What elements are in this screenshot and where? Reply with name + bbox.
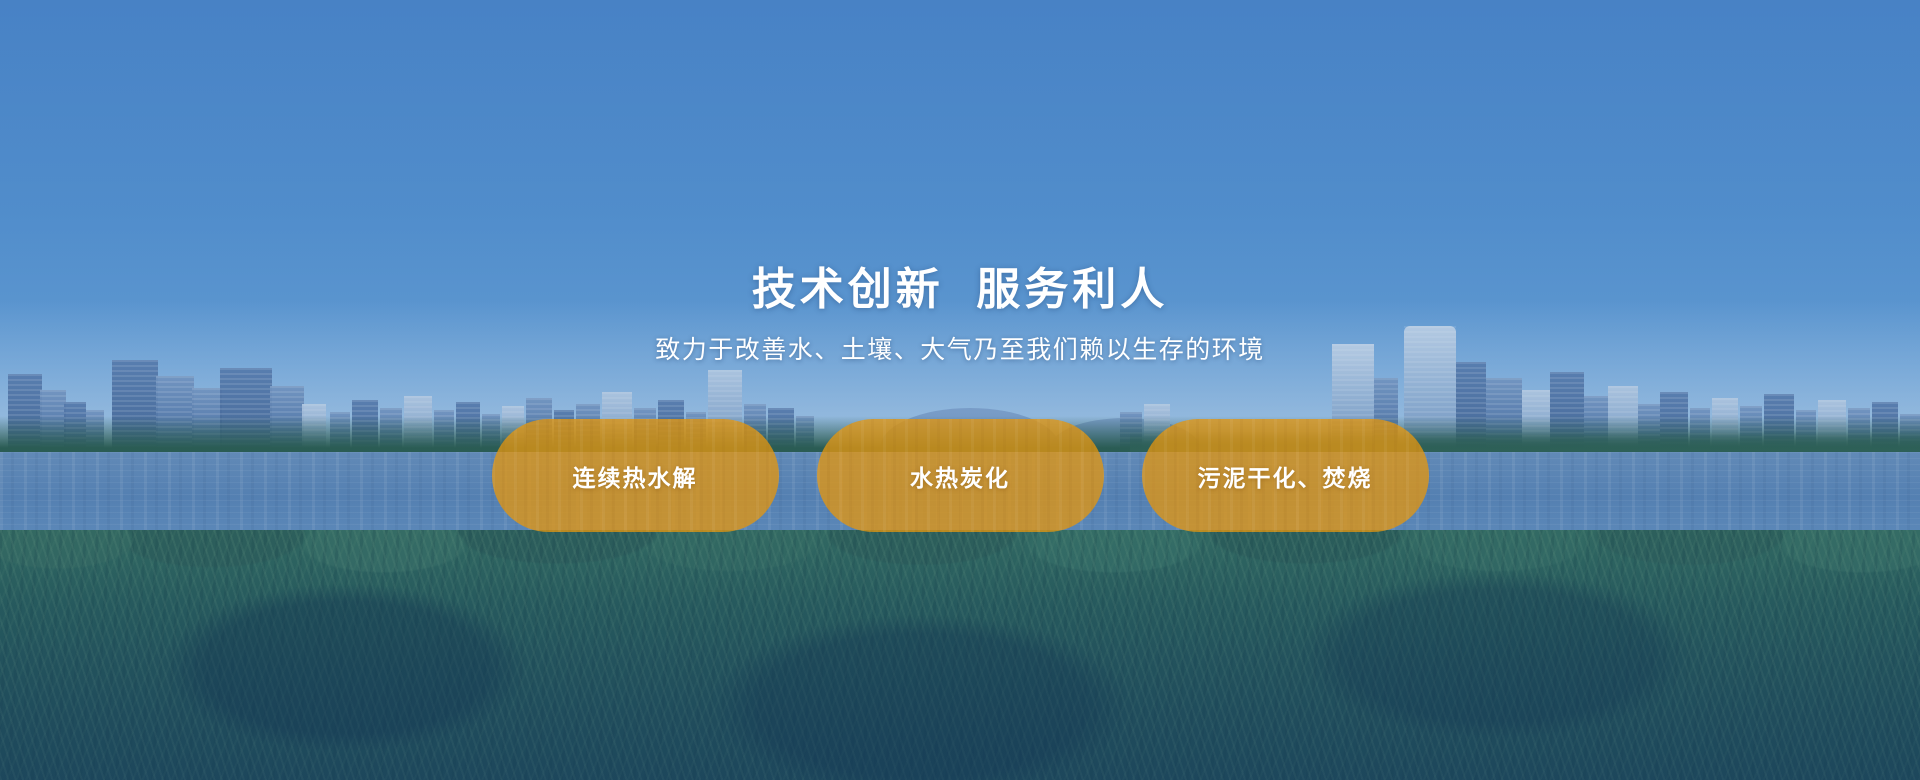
- pill-button-sludge-drying-incineration[interactable]: 污泥干化、焚烧: [1142, 419, 1429, 532]
- hero-subtitle: 致力于改善水、土壤、大气乃至我们赖以生存的环境: [655, 338, 1265, 363]
- hero-button-row: 连续热水解 水热炭化 污泥干化、焚烧: [492, 419, 1429, 532]
- pill-button-label: 污泥干化、焚烧: [1198, 459, 1373, 493]
- hero-content: 技术创新 服务利人 致力于改善水、土壤、大气乃至我们赖以生存的环境 连续热水解 …: [0, 0, 1920, 780]
- hero-headline: 技术创新 服务利人: [752, 268, 1168, 312]
- pill-button-label: 连续热水解: [573, 459, 698, 493]
- pill-button-hydrothermal-carbonization[interactable]: 水热炭化: [817, 419, 1104, 532]
- pill-button-label: 水热炭化: [910, 459, 1010, 493]
- pill-button-continuous-thermal-hydrolysis[interactable]: 连续热水解: [492, 419, 779, 532]
- hero-banner: 技术创新 服务利人 致力于改善水、土壤、大气乃至我们赖以生存的环境 连续热水解 …: [0, 0, 1920, 780]
